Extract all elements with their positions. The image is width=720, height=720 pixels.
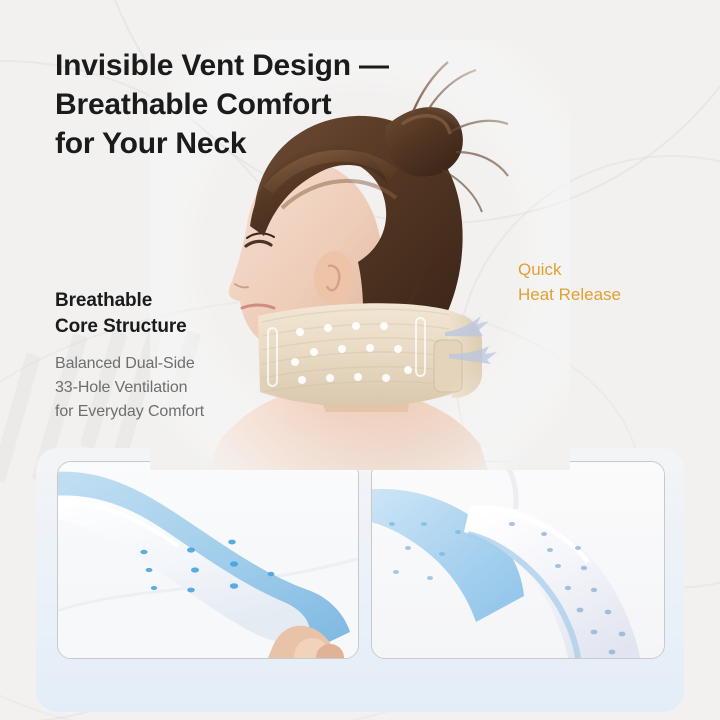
heat-release-arrows [443,312,523,364]
arrow-icon [445,316,489,336]
feature-block: Breathable Core Structure Balanced Dual-… [55,288,315,423]
foam-bending-photo [58,462,358,658]
feature-title: Breathable Core Structure [55,288,315,340]
arrow-icon [449,346,497,364]
heat-release-callout: Quick Heat Release [518,258,621,307]
watermark-stroke [0,352,41,483]
foam-curve-photo [372,462,664,658]
product-feature-image: Invisible Vent Design — Breathable Comfo… [0,0,720,720]
detail-panel-left [57,461,359,659]
page-title: Invisible Vent Design — Breathable Comfo… [55,46,485,163]
feature-subtitle: Balanced Dual-Side 33-Hole Ventilation f… [55,352,315,423]
detail-panel-right [371,461,665,659]
